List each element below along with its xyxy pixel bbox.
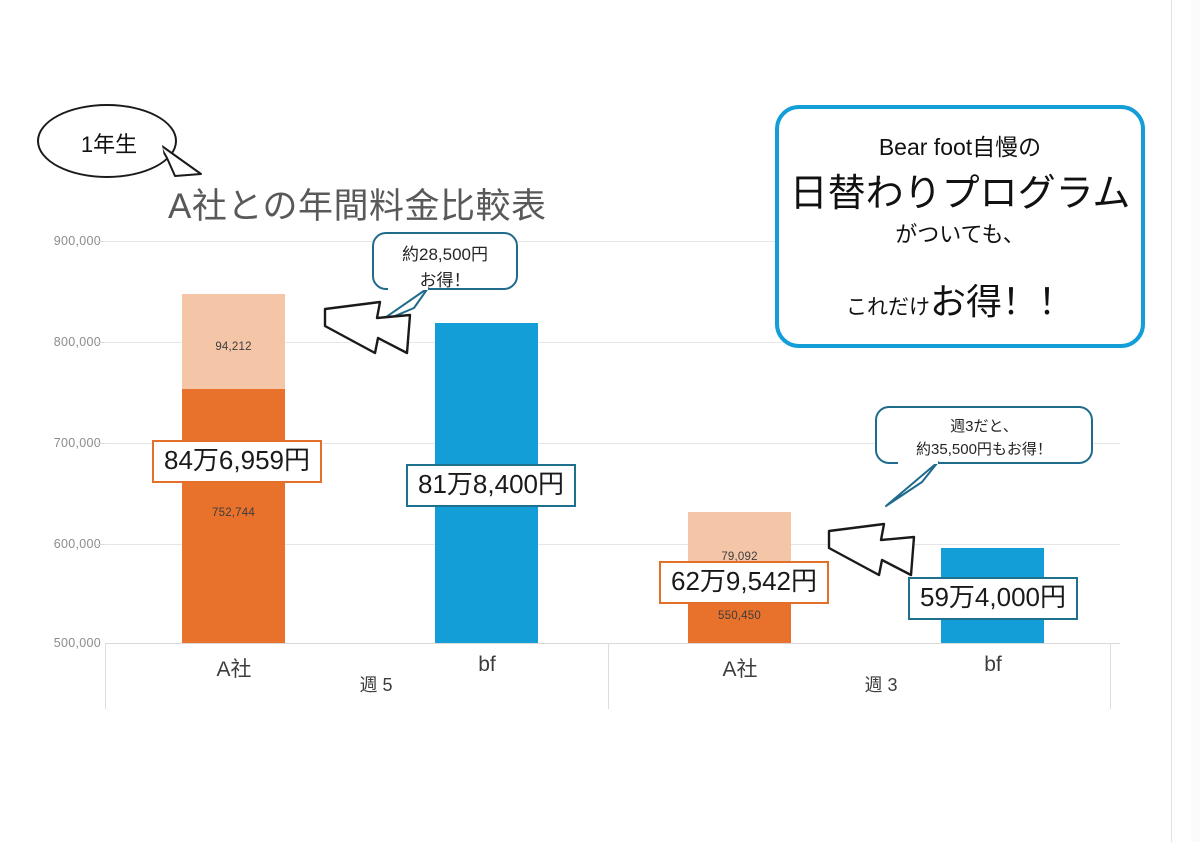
callout-week3-tail-icon xyxy=(880,460,950,510)
bar-label-94212: 94,212 xyxy=(182,341,285,353)
promo-box: Bear foot自慢の 日替わりプログラム がついても、 これだけお得！！ xyxy=(775,105,1145,348)
ytick-label-900000: 900,000 xyxy=(11,234,101,248)
ytick-dash-900000 xyxy=(97,241,105,242)
category-label-group2-bf: bf xyxy=(933,653,1053,677)
category-label-group2-a: A社 xyxy=(680,653,800,683)
chart-title: A社との年間料金比較表 xyxy=(168,178,547,229)
value-box-group2-bf: 59万4,000円 xyxy=(908,577,1078,620)
axis-line-baseline xyxy=(105,643,1120,644)
category-separator-right xyxy=(1110,643,1111,709)
ytick-dash-700000 xyxy=(97,443,105,444)
page-edge-line xyxy=(1171,0,1172,842)
callout-week3-line2: 約35,500円もお得！ xyxy=(877,439,1091,462)
promo-line2: 日替わりプログラム xyxy=(790,174,1131,216)
category-label-group1-bf: bf xyxy=(427,653,547,677)
bar-group1-a-base: 752,744 xyxy=(182,389,285,643)
group-label-week5: 週 5 xyxy=(316,671,436,697)
value-box-group1-a: 84万6,959円 xyxy=(152,440,322,483)
category-separator-left xyxy=(105,643,106,709)
callout-week3-line1: 週3だと、 xyxy=(877,416,1091,439)
promo-line4-small: これだけ xyxy=(846,296,930,319)
value-box-group2-a: 62万9,542円 xyxy=(659,561,829,604)
callout-week3: 週3だと、 約35,500円もお得！ xyxy=(875,406,1093,464)
value-box-group1-bf: 81万8,400円 xyxy=(406,464,576,507)
ytick-dash-600000 xyxy=(97,544,105,545)
page-margin-strip xyxy=(1191,0,1200,842)
ytick-label-800000: 800,000 xyxy=(11,335,101,349)
promo-line4: これだけお得！！ xyxy=(846,273,1074,325)
callout-week5: 約28,500円 お得！ xyxy=(372,232,518,290)
promo-line1: Bear foot自慢の xyxy=(879,128,1041,162)
slide-canvas: 1年生 A社との年間料金比較表 900,000 800,000 700,000 … xyxy=(0,0,1200,842)
promo-line4-big: お得！！ xyxy=(930,281,1074,322)
category-separator-mid xyxy=(608,643,609,709)
ytick-label-500000: 500,000 xyxy=(11,636,101,650)
block-arrow-week3-icon xyxy=(826,520,936,582)
bar-label-752744: 752,744 xyxy=(182,507,285,519)
bar-group1-a-extra: 94,212 xyxy=(182,294,285,389)
ytick-label-600000: 600,000 xyxy=(11,537,101,551)
bar-label-550450: 550,450 xyxy=(688,610,791,622)
group-label-week3: 週 3 xyxy=(821,671,941,697)
promo-line3: がついても、 xyxy=(895,217,1025,249)
ytick-dash-800000 xyxy=(97,342,105,343)
callout-week5-line1: 約28,500円 xyxy=(374,242,516,268)
block-arrow-week5-icon xyxy=(322,298,432,358)
ytick-label-700000: 700,000 xyxy=(11,436,101,450)
category-label-group1-a: A社 xyxy=(174,653,294,683)
